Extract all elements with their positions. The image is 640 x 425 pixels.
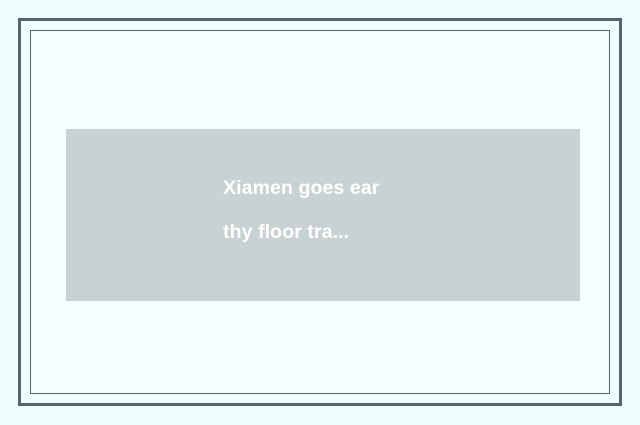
image-placeholder-panel: Xiamen goes ear thy floor tra... xyxy=(66,129,580,301)
outer-frame-border: Xiamen goes ear thy floor tra... xyxy=(18,18,622,406)
inner-frame-border: Xiamen goes ear thy floor tra... xyxy=(30,30,610,394)
placeholder-caption-text: Xiamen goes ear thy floor tra... xyxy=(223,166,423,254)
page-root: Xiamen goes ear thy floor tra... xyxy=(0,0,640,425)
